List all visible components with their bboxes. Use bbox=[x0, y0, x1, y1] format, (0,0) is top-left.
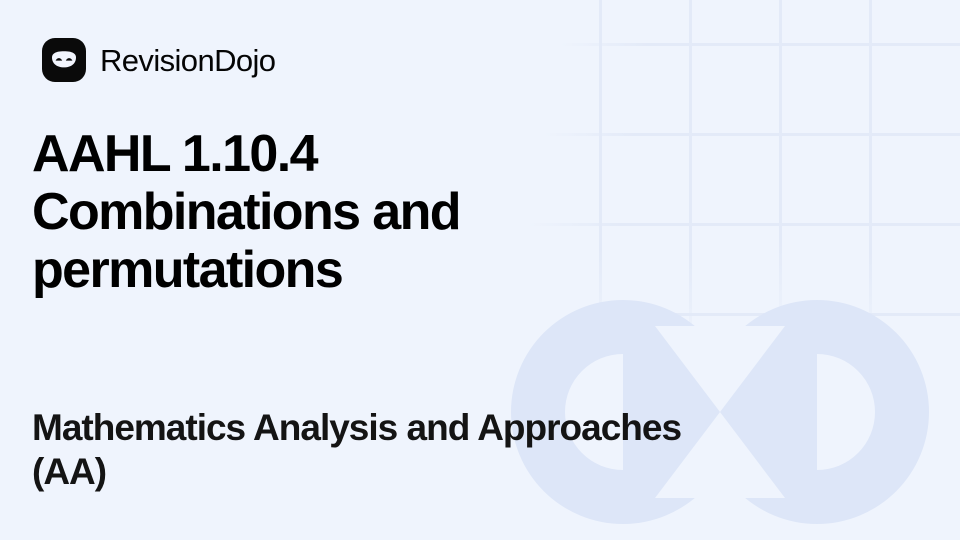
page-subtitle: Mathematics Analysis and Approaches (AA) bbox=[32, 406, 922, 494]
slide-canvas: RevisionDojo AAHL 1.10.4 Combinations an… bbox=[0, 0, 960, 540]
page-title-line: AAHL 1.10.4 bbox=[32, 125, 632, 183]
page-title: AAHL 1.10.4 Combinations and permutation… bbox=[32, 125, 632, 299]
page-title-line: permutations bbox=[32, 241, 632, 299]
page-subtitle-line: (AA) bbox=[32, 450, 922, 494]
page-subtitle-line: Mathematics Analysis and Approaches bbox=[32, 406, 922, 450]
ninja-mask-logo-icon[interactable] bbox=[42, 38, 86, 82]
brand-row[interactable]: RevisionDojo bbox=[42, 38, 275, 82]
page-title-line: Combinations and bbox=[32, 183, 632, 241]
brand-wordmark: RevisionDojo bbox=[100, 45, 275, 76]
